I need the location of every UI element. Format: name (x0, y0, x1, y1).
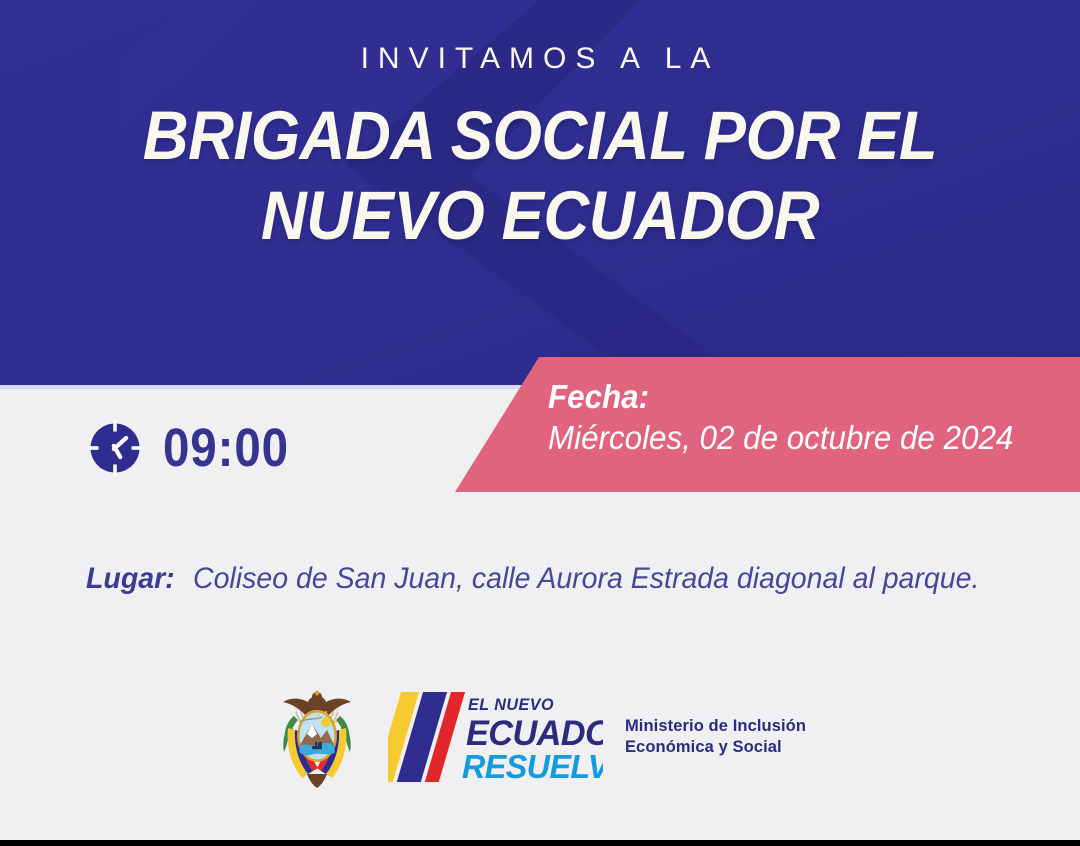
ecuador-coat-of-arms-icon (274, 682, 360, 792)
date-banner: Fecha: Miércoles, 02 de octubre de 2024 (455, 357, 1080, 492)
date-banner-text: Fecha: Miércoles, 02 de octubre de 2024 (548, 378, 1038, 460)
place-label: Lugar: (86, 562, 175, 596)
svg-text:EL NUEVO: EL NUEVO (468, 695, 554, 714)
ministry-name: Ministerio de Inclusión Económica y Soci… (625, 716, 806, 758)
place-row: Lugar: Coliseo de San Juan, calle Aurora… (86, 562, 1021, 596)
event-invitation-poster: INVITAMOS A LA BRIGADA SOCIAL POR EL NUE… (0, 0, 1080, 846)
date-value: Miércoles, 02 de octubre de 2024 (548, 417, 1013, 460)
clock-icon (86, 419, 144, 477)
date-label: Fecha: (548, 378, 1013, 417)
time-row: 09:00 (86, 419, 306, 477)
svg-text:RESUELVE: RESUELVE (462, 748, 603, 785)
page-title-line-2: NUEVO ECUADOR (43, 176, 1037, 256)
flag-bars-icon (388, 692, 465, 782)
bottom-letterbox-bar (0, 840, 1080, 846)
page-title: BRIGADA SOCIAL POR EL NUEVO ECUADOR (43, 96, 1037, 256)
ministry-name-line-2: Económica y Social (625, 737, 806, 758)
poster-header: INVITAMOS A LA BRIGADA SOCIAL POR EL NUE… (0, 0, 1080, 385)
place-value: Coliseo de San Juan, calle Aurora Estrad… (193, 562, 979, 596)
page-kicker: INVITAMOS A LA (0, 42, 1080, 76)
page-title-line-1: BRIGADA SOCIAL POR EL (143, 97, 937, 174)
el-nuevo-ecuador-resuelve-logo: EL NUEVO ECUADOR RESUELVE (388, 686, 603, 788)
ministry-name-line-1: Ministerio de Inclusión (625, 716, 806, 737)
event-time: 09:00 (163, 421, 289, 475)
footer-logo-row: EL NUEVO ECUADOR RESUELVE Ministerio de … (0, 672, 1080, 802)
